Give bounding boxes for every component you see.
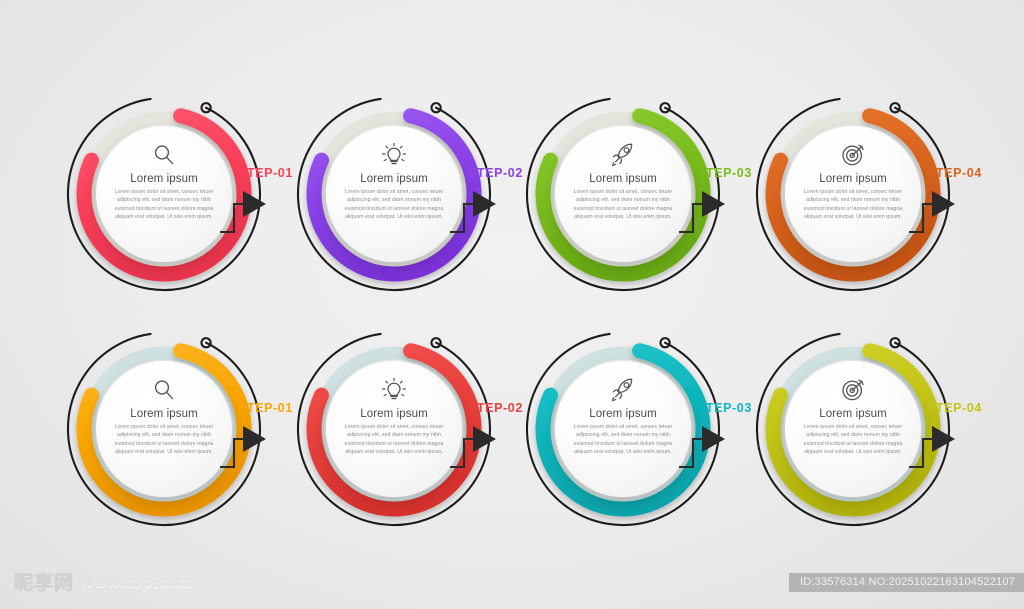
card-title: Lorem ipsum: [589, 173, 657, 185]
card-body-text: Lorem ipsum dolor sit amet, consec tetue…: [801, 188, 905, 222]
arrow-head: [932, 426, 955, 452]
card-body-text: Lorem ipsum dolor sit amet, consec tetue…: [342, 188, 446, 222]
card-body-text: Lorem ipsum dolor sit amet, consec tetue…: [112, 423, 216, 457]
arrow-head: [243, 191, 266, 217]
rocket-icon: [610, 377, 636, 403]
arrow-head: [473, 191, 496, 217]
arrow-head: [473, 426, 496, 452]
card-body-text: Lorem ipsum dolor sit amet, consec tetue…: [801, 423, 905, 457]
card-face: Lorem ipsumLorem ipsum dolor sit amet, c…: [555, 126, 691, 262]
step-label: STEP-02: [468, 166, 523, 180]
step-label: STEP-01: [238, 166, 293, 180]
arrow-head: [932, 191, 955, 217]
magnifier-icon: [151, 142, 177, 168]
card-body-text: Lorem ipsum dolor sit amet, consec tetue…: [112, 188, 216, 222]
arrow-connector: [444, 186, 514, 246]
arrow-connector: [214, 421, 284, 481]
infographic-canvas: Lorem ipsumLorem ipsum dolor sit amet, c…: [0, 0, 1024, 609]
lightbulb-icon: [381, 142, 407, 168]
step-label: STEP-03: [697, 401, 752, 415]
card-face: Lorem ipsumLorem ipsum dolor sit amet, c…: [555, 361, 691, 497]
arrow-connector: [903, 421, 973, 481]
card-face: Lorem ipsumLorem ipsum dolor sit amet, c…: [785, 126, 921, 262]
card-body-text: Lorem ipsum dolor sit amet, consec tetue…: [571, 188, 675, 222]
arrow-head: [702, 426, 725, 452]
card-face: Lorem ipsumLorem ipsum dolor sit amet, c…: [326, 126, 462, 262]
step-label: STEP-02: [468, 401, 523, 415]
card-title: Lorem ipsum: [819, 173, 887, 185]
rocket-icon: [610, 142, 636, 168]
card-title: Lorem ipsum: [130, 173, 198, 185]
lightbulb-icon: [381, 377, 407, 403]
card-title: Lorem ipsum: [130, 408, 198, 420]
step-label: STEP-04: [927, 166, 982, 180]
card-title: Lorem ipsum: [360, 408, 428, 420]
card-title: Lorem ipsum: [589, 408, 657, 420]
card-body-text: Lorem ipsum dolor sit amet, consec tetue…: [342, 423, 446, 457]
card-title: Lorem ipsum: [819, 408, 887, 420]
arrow-connector: [444, 421, 514, 481]
card-face: Lorem ipsumLorem ipsum dolor sit amet, c…: [96, 361, 232, 497]
card-face: Lorem ipsumLorem ipsum dolor sit amet, c…: [326, 361, 462, 497]
step-label: STEP-01: [238, 401, 293, 415]
image-id-bar: ID:33576314 NO:20251022163104522107: [789, 573, 1024, 592]
step-label: STEP-03: [697, 166, 752, 180]
arrow-connector: [673, 421, 743, 481]
card-title: Lorem ipsum: [360, 173, 428, 185]
arrow-connector: [903, 186, 973, 246]
watermark: 昵享网 www.nipic.cn: [14, 568, 195, 595]
target-icon: [840, 377, 866, 403]
watermark-url: www.nipic.cn: [81, 573, 195, 591]
arrow-connector: [214, 186, 284, 246]
magnifier-icon: [151, 377, 177, 403]
arrow-head: [702, 191, 725, 217]
watermark-logo-text: 昵享网: [14, 568, 74, 595]
card-face: Lorem ipsumLorem ipsum dolor sit amet, c…: [96, 126, 232, 262]
arrow-connector: [673, 186, 743, 246]
card-body-text: Lorem ipsum dolor sit amet, consec tetue…: [571, 423, 675, 457]
step-label: STEP-04: [927, 401, 982, 415]
arrow-head: [243, 426, 266, 452]
target-icon: [840, 142, 866, 168]
card-face: Lorem ipsumLorem ipsum dolor sit amet, c…: [785, 361, 921, 497]
